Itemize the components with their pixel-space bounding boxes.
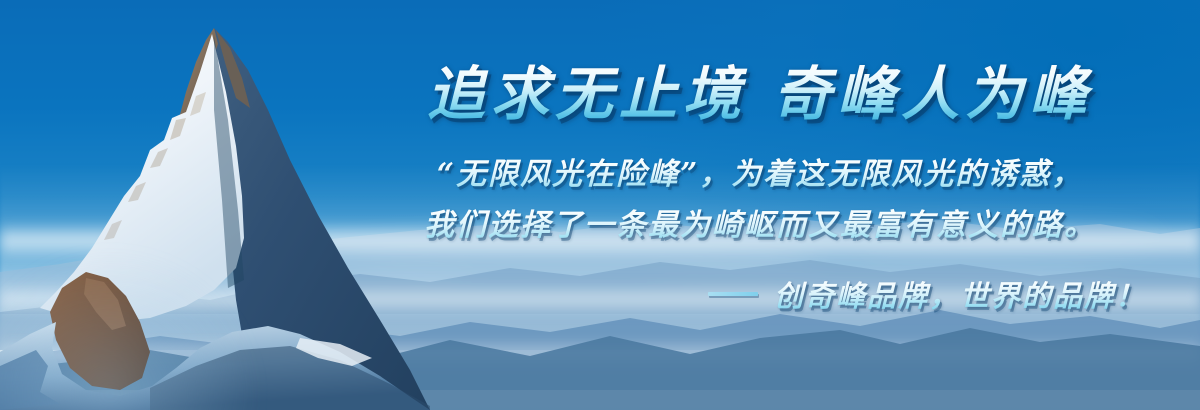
banner-attribution: 创奇峰品牌，世界的品牌！: [370, 273, 1150, 315]
attribution-text: 创奇峰品牌，世界的品牌！: [774, 273, 1146, 315]
banner-body-line-2: 我们选择了一条最为崎岖而又最富有意义的路。: [370, 203, 1150, 250]
banner-body-line-1: “无限风光在险峰”，为着这无限风光的诱惑，: [370, 152, 1150, 199]
banner-headline: 追求无止境 奇峰人为峰: [370, 60, 1150, 128]
peak-base-glow: [0, 250, 260, 410]
hero-banner: 追求无止境 奇峰人为峰 “无限风光在险峰”，为着这无限风光的诱惑， 我们选择了一…: [0, 0, 1200, 410]
banner-text-block: 追求无止境 奇峰人为峰 “无限风光在险峰”，为着这无限风光的诱惑， 我们选择了一…: [370, 60, 1150, 315]
attribution-dash-icon: [708, 292, 758, 296]
